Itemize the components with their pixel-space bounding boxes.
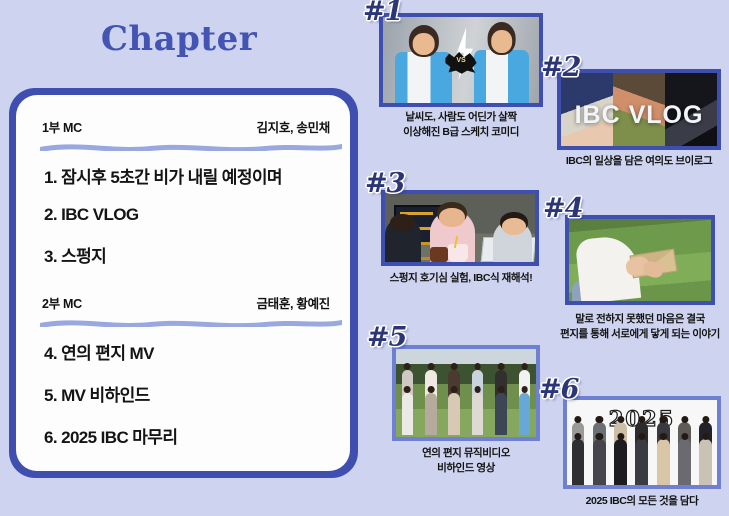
agenda-item: 4. 연의 편지 MV — [44, 339, 330, 364]
caption-line: 편지를 통해 서로에게 닿게 되는 이야기 — [544, 327, 729, 342]
agenda-item: 5. MV 비하인드 — [44, 381, 330, 406]
photo-frame-2: IBC VLOG — [557, 69, 721, 150]
photo-caption-6: 2025 IBC의 모든 것을 담다 — [552, 494, 729, 509]
photo-frame-5 — [392, 345, 540, 441]
agenda-item: 2. IBC VLOG — [44, 205, 330, 225]
vs-overlay-text: VS — [452, 57, 471, 64]
caption-line: 말로 전하지 못했던 마음은 결국 — [544, 312, 729, 327]
agenda-card-body: 1부 MC 김지호, 송민채 1. 잠시후 5초간 비가 내릴 예정이며 2. … — [16, 95, 350, 471]
wave-divider-2 — [40, 316, 342, 327]
photo-caption-2: IBC의 일상을 담은 여의도 브이로그 — [548, 154, 729, 169]
part1-mc-names: 김지호, 송민채 — [256, 117, 330, 136]
part2-label: 2부 MC — [42, 293, 82, 312]
agenda-item: 1. 잠시후 5초간 비가 내릴 예정이며 — [44, 163, 330, 188]
part1-label: 1부 MC — [42, 117, 82, 136]
agenda-item: 6. 2025 IBC 마무리 — [44, 423, 330, 448]
caption-line: IBC의 일상을 담은 여의도 브이로그 — [548, 154, 729, 169]
agenda-card: 1부 MC 김지호, 송민채 1. 잠시후 5초간 비가 내릴 예정이며 2. … — [9, 88, 358, 478]
wave-divider-1 — [40, 140, 342, 151]
photo-image-4 — [569, 219, 711, 301]
agenda-item: 3. 스펑지 — [44, 242, 330, 267]
part2-mc-names: 금태훈, 황예진 — [256, 293, 330, 312]
photo-caption-1: 날씨도, 사람도 어딘가 살짝 이상해진 B급 스케치 코미디 — [376, 110, 546, 140]
caption-line: 2025 IBC의 모든 것을 담다 — [552, 494, 729, 509]
photo-caption-4: 말로 전하지 못했던 마음은 결국 편지를 통해 서로에게 닿게 되는 이야기 — [544, 312, 729, 342]
photo-frame-1: VS — [379, 13, 543, 107]
photo-frame-3 — [381, 190, 539, 266]
caption-line: 연의 편지 뮤직비디오 — [382, 446, 550, 461]
caption-line: 비하인드 영상 — [382, 461, 550, 476]
photo-frame-4 — [565, 215, 715, 305]
photo-image-3 — [385, 194, 535, 262]
caption-line: 스펑지 호기심 실험, IBC식 재해석! — [376, 271, 546, 286]
page-title: Chapter — [0, 22, 358, 56]
caption-line: 이상해진 B급 스케치 코미디 — [376, 125, 546, 140]
mc-row-part2: 2부 MC 금태훈, 황예진 — [42, 293, 330, 312]
mc-row-part1: 1부 MC 김지호, 송민채 — [42, 117, 330, 136]
photo-image-6: 2025 — [567, 400, 717, 485]
photo-caption-5: 연의 편지 뮤직비디오 비하인드 영상 — [382, 446, 550, 476]
slide-canvas: Chapter 1부 MC 김지호, 송민채 1. 잠시후 5초간 비가 내릴 … — [0, 0, 729, 516]
vlog-overlay-text: IBC VLOG — [561, 101, 717, 130]
photo-caption-3: 스펑지 호기심 실험, IBC식 재해석! — [376, 271, 546, 286]
photo-frame-6: 2025 — [563, 396, 721, 489]
photo-image-2: IBC VLOG — [561, 73, 717, 146]
photo-image-5 — [396, 349, 536, 437]
photo-image-1: VS — [383, 17, 539, 103]
caption-line: 날씨도, 사람도 어딘가 살짝 — [376, 110, 546, 125]
